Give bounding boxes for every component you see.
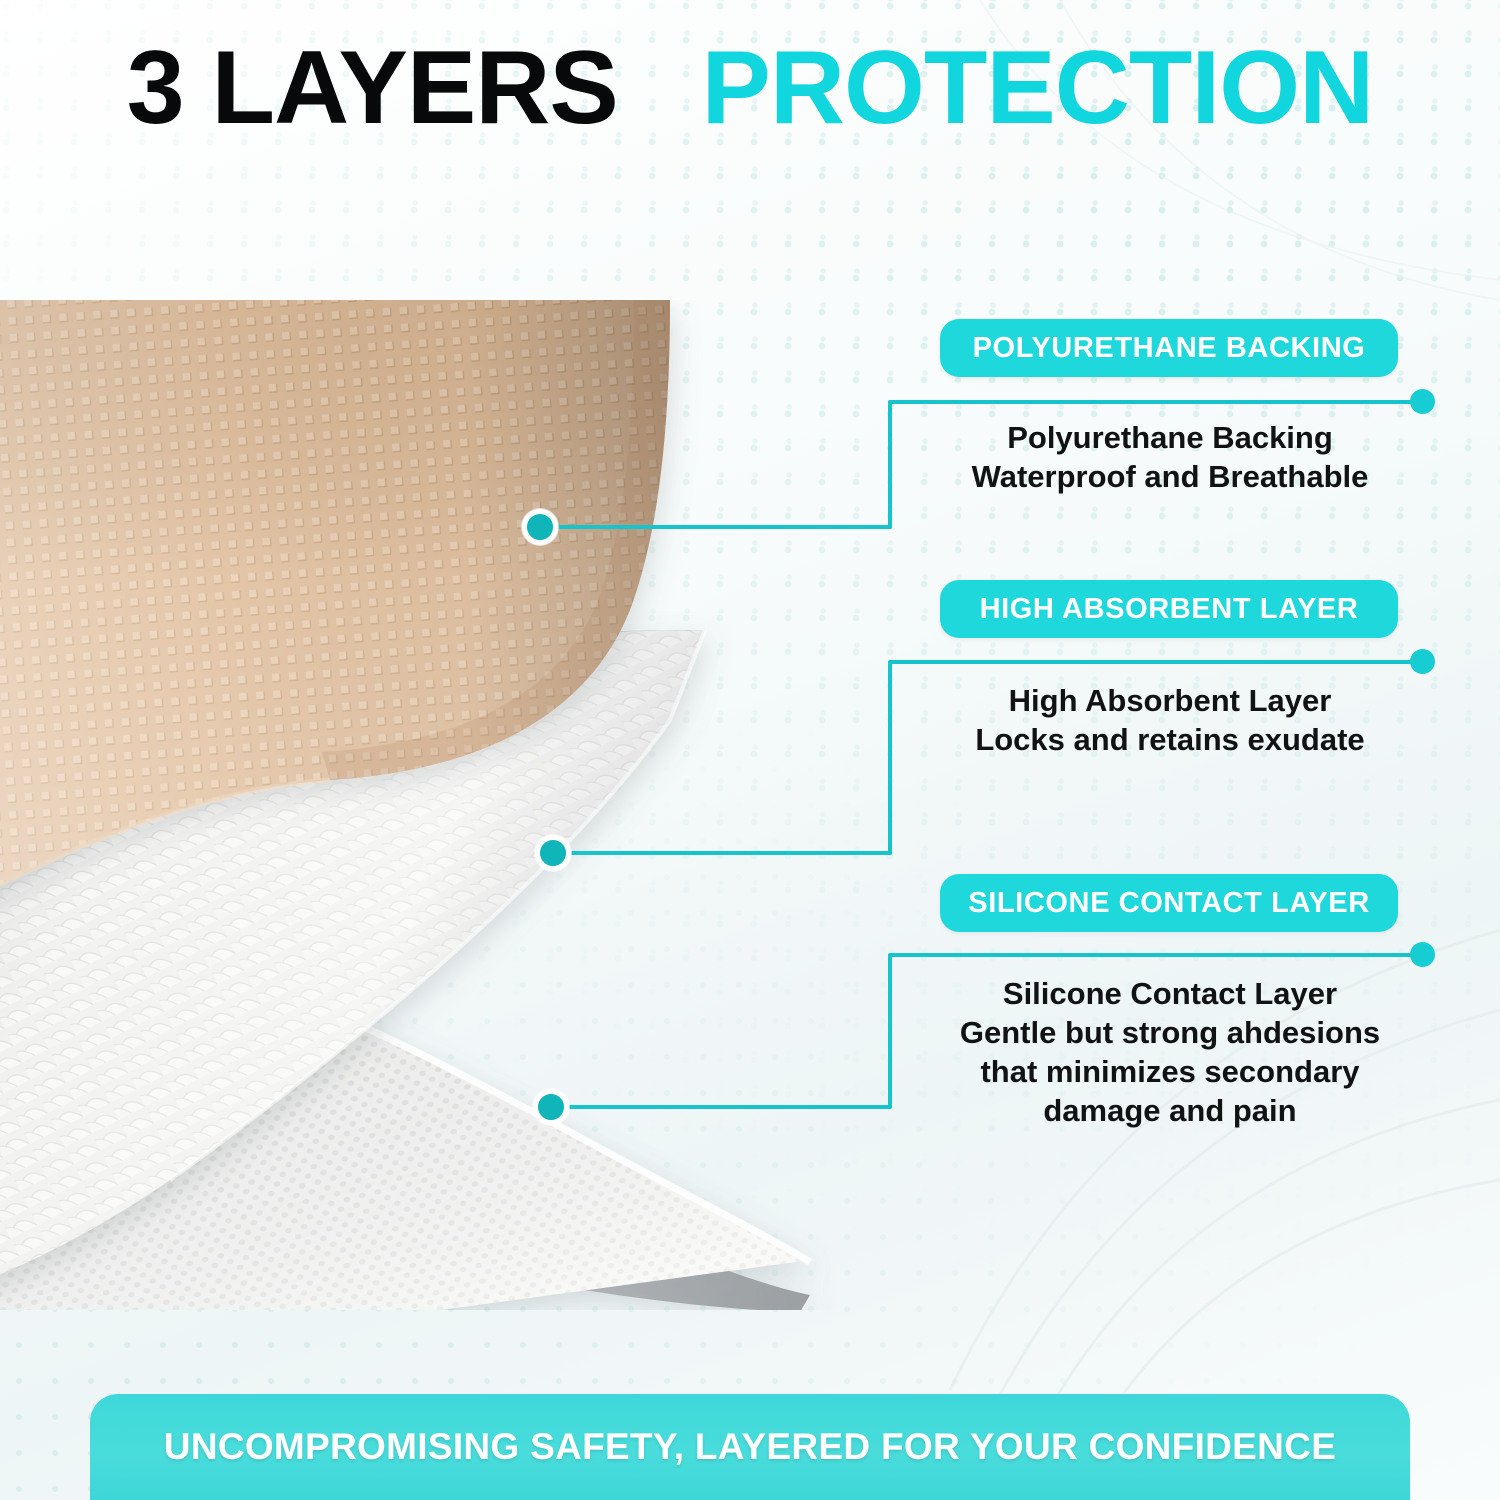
connector-end-dot [1410, 649, 1435, 674]
connector-segment-horizontal-upper [888, 953, 1422, 957]
title-part-cyan: PROTECTION [701, 30, 1373, 146]
description-polyurethane-backing: Polyurethane Backing Waterproof and Brea… [905, 418, 1435, 496]
bottom-banner-text: UNCOMPROMISING SAFETY, LAYERED FOR YOUR … [164, 1426, 1336, 1468]
connector-end-dot [1410, 389, 1435, 414]
badge-high-absorbent-layer[interactable]: HIGH ABSORBENT LAYER [940, 580, 1398, 638]
connector-segment-vertical [888, 662, 892, 855]
badge-polyurethane-backing[interactable]: POLYURETHANE BACKING [940, 319, 1398, 377]
title-part-dark: 3 LAYERS [127, 30, 618, 146]
connector-segment-horizontal-upper [888, 400, 1422, 404]
page-title: 3 LAYERS PROTECTION [0, 34, 1500, 143]
description-silicone-contact-layer: Silicone Contact Layer Gentle but strong… [905, 974, 1435, 1130]
product-illustration [0, 300, 850, 1310]
connector-end-dot [1410, 942, 1435, 967]
infographic-canvas: 3 LAYERS PROTECTION [0, 0, 1500, 1500]
connector-segment-vertical [888, 955, 892, 1109]
bottom-banner: UNCOMPROMISING SAFETY, LAYERED FOR YOUR … [90, 1394, 1410, 1500]
connector-segment-vertical [888, 402, 892, 529]
badge-silicone-contact-layer[interactable]: SILICONE CONTACT LAYER [940, 874, 1398, 932]
connector-segment-horizontal-upper [888, 660, 1422, 664]
description-high-absorbent-layer: High Absorbent Layer Locks and retains e… [905, 681, 1435, 759]
